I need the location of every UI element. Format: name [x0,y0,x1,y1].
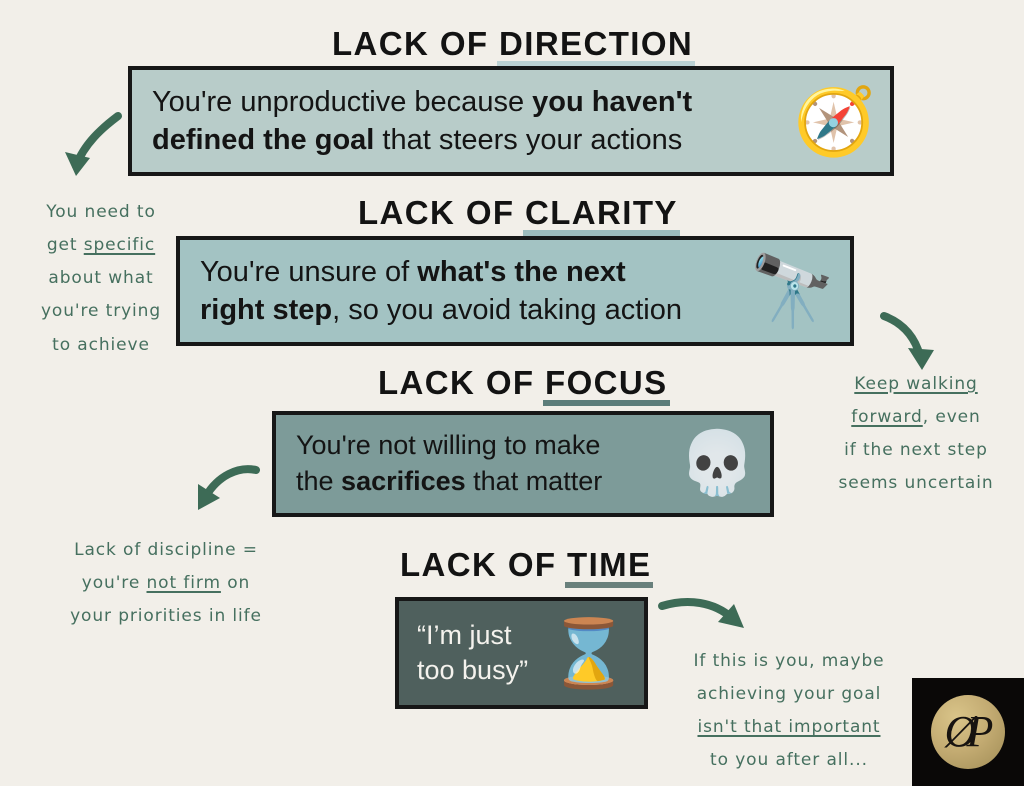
statement-line-2: too busy” [417,655,528,685]
note-line-4: to you after all... [710,750,868,770]
statement-bold-part-1: what's the next [417,256,625,288]
note-line-2-post: on [221,573,250,593]
heading-highlight-word: CLARITY [525,196,678,229]
statement-plain-pre-2: the [296,466,341,496]
statement-bold-part-1: you haven't [532,86,692,118]
heading-highlight-word: TIME [567,548,651,581]
logo-monogram: ØP [945,710,992,754]
note-line-2-pre: get [47,235,84,255]
curved-arrow-right-time [656,592,758,642]
statement-text-focus: You're not willing to makethe sacrifices… [296,428,675,499]
note-line-4: seems uncertain [838,473,993,493]
note-line-2-underline: forward [851,407,922,427]
note-line-1-underline: Keep walking [854,374,977,394]
note-line-3: about what [48,268,153,288]
note-line-2-pre: you're [82,573,147,593]
heading-highlight-word: DIRECTION [499,27,693,60]
note-line-3: if the next step [844,440,988,460]
note-line-2-post: , even [923,407,981,427]
heading-lack-of-time: LACK OF TIME [400,548,651,581]
heading-prefix: LACK OF [400,546,567,583]
note-focus: Lack of discipline = you're not firm on … [38,534,294,633]
heading-prefix: LACK OF [332,25,499,62]
heading-lack-of-focus: LACK OF FOCUS [378,366,668,399]
logo-gold-disc: ØP [931,695,1005,769]
heading-prefix: LACK OF [378,364,545,401]
compass-icon: 🧭 [794,88,876,154]
note-direction: You need to get specific about what you'… [16,196,186,362]
note-time: If this is you, maybe achieving your goa… [664,645,914,778]
note-line-2-underline: specific [84,235,155,255]
note-line-2: achieving your goal [697,684,882,704]
note-line-2-underline: not firm [147,573,221,593]
statement-bold-part-2: right step [200,294,332,326]
heading-prefix: LACK OF [358,194,525,231]
telescope-explorer-icon: 🔭 [749,256,836,326]
statement-plain-part-1: You're not willing to make [296,430,600,460]
note-line-3-underline: isn't that important [697,717,880,737]
statement-bold-part-2: defined the goal [152,124,374,156]
curved-arrow-down-left-focus [186,462,262,532]
statement-plain-part-1: You're unproductive because [152,86,532,118]
note-clarity: Keep walking forward, even if the next s… [818,368,1014,501]
note-line-5: to achieve [52,335,150,355]
infographic-canvas: LACK OF DIRECTION You're unproductive be… [0,0,1024,786]
statement-plain-part-2: that matter [466,466,603,496]
note-line-1: Lack of discipline = [74,540,258,560]
brand-logo[interactable]: ØP [912,678,1024,786]
heading-lack-of-clarity: LACK OF CLARITY [358,196,678,229]
statement-box-time: “I’m justtoo busy” ⌛ [395,597,648,709]
flaming-skull-icon: 💀 [679,433,756,495]
statement-text-time: “I’m justtoo busy” [417,618,546,688]
statement-line-1: “I’m just [417,620,512,650]
statement-box-clarity: You're unsure of what's the nextright st… [176,236,854,346]
statement-bold-part-2: sacrifices [341,466,466,496]
hourglass-icon: ⌛ [548,620,630,686]
statement-plain-part-1: You're unsure of [200,256,417,288]
heading-lack-of-direction: LACK OF DIRECTION [332,27,693,60]
statement-text-clarity: You're unsure of what's the nextright st… [200,253,753,330]
statement-plain-part-2: that steers your actions [374,124,682,156]
statement-box-direction: You're unproductive because you haven'td… [128,66,894,176]
statement-text-direction: You're unproductive because you haven'td… [152,83,790,160]
heading-highlight-word: FOCUS [545,366,668,399]
note-line-1: You need to [46,202,156,222]
note-line-3: your priorities in life [70,606,262,626]
curved-arrow-down-left-direction [56,108,128,184]
statement-plain-part-2: , so you avoid taking action [332,294,682,326]
note-line-1: If this is you, maybe [693,651,884,671]
note-line-4: you're trying [41,301,161,321]
statement-box-focus: You're not willing to makethe sacrifices… [272,411,774,517]
